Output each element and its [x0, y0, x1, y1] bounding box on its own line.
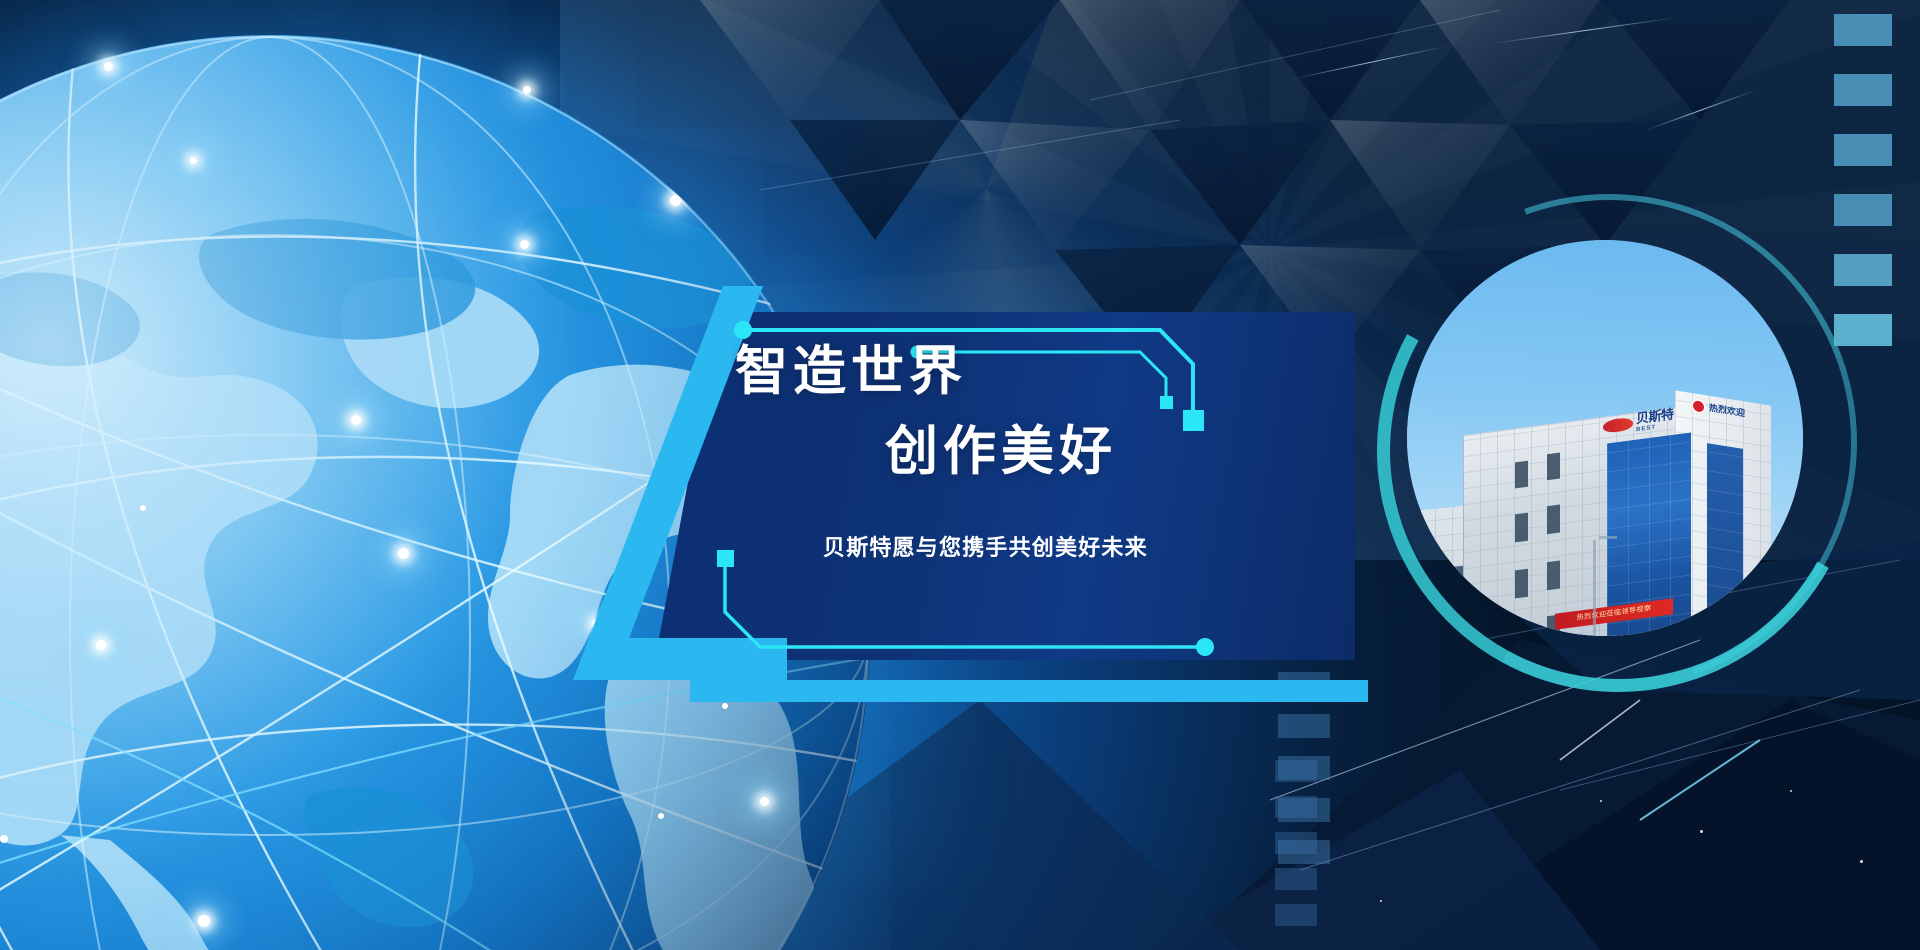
globe-node: [0, 835, 8, 843]
banner-stage: 贝斯特 BEST 热烈欢迎 热烈欢迎莅临领导视察: [0, 0, 1920, 950]
sparkle: [1860, 860, 1863, 863]
edge-block: [1834, 314, 1892, 346]
pole-arm: [1599, 536, 1617, 539]
sparkle: [1700, 830, 1703, 833]
flag-pole: [1593, 540, 1596, 636]
window: [1515, 569, 1528, 599]
window: [1515, 461, 1528, 489]
headline-panel: 智造世界 创作美好 贝斯特愿与您携手共创美好未来: [655, 312, 1355, 660]
window: [1547, 453, 1560, 481]
mid-block: [1278, 714, 1330, 738]
spark-node: [523, 86, 531, 94]
subtitle-text: 贝斯特愿与您携手共创美好未来: [823, 530, 1148, 562]
edge-block: [1834, 74, 1892, 106]
spark-node: [398, 548, 409, 559]
lower-block-stack: [1275, 760, 1317, 926]
spark-node: [96, 640, 106, 650]
sparkle: [1790, 790, 1792, 792]
low-block: [1275, 832, 1317, 854]
globe-node: [140, 505, 146, 511]
globe-node: [760, 797, 769, 806]
secondary-logo-icon: [1691, 398, 1706, 415]
globe-node: [198, 915, 210, 927]
low-block: [1275, 904, 1317, 926]
low-block: [1275, 868, 1317, 890]
sparkle: [1600, 800, 1602, 802]
spark-node: [104, 62, 113, 71]
globe-node: [351, 415, 361, 425]
edge-block: [1834, 254, 1892, 286]
headline-line-1: 智造世界: [735, 344, 967, 400]
globe-node: [722, 703, 728, 709]
spark-node: [520, 240, 529, 249]
window: [1515, 513, 1528, 543]
headline-text-group: 智造世界 创作美好 贝斯特愿与您携手共创美好未来: [655, 312, 1355, 660]
glass-mullions: [1707, 443, 1743, 629]
globe-node: [658, 813, 664, 819]
low-block: [1275, 760, 1317, 782]
glass-curtain-wall-right: [1707, 443, 1743, 629]
sign2-text: 热烈欢迎: [1709, 403, 1745, 418]
edge-block: [1834, 14, 1892, 46]
window: [1547, 505, 1560, 535]
window: [1515, 623, 1528, 636]
globe-node: [670, 195, 681, 206]
window: [1547, 561, 1560, 591]
headline-line-2: 创作美好: [885, 424, 1117, 480]
spark-node: [190, 157, 197, 164]
low-block: [1275, 796, 1317, 818]
sparkle: [1380, 900, 1382, 902]
company-logo-mark-icon: [1603, 417, 1633, 434]
edge-block: [1834, 194, 1892, 226]
edge-block: [1834, 134, 1892, 166]
right-edge-block-stack: [1834, 14, 1892, 346]
